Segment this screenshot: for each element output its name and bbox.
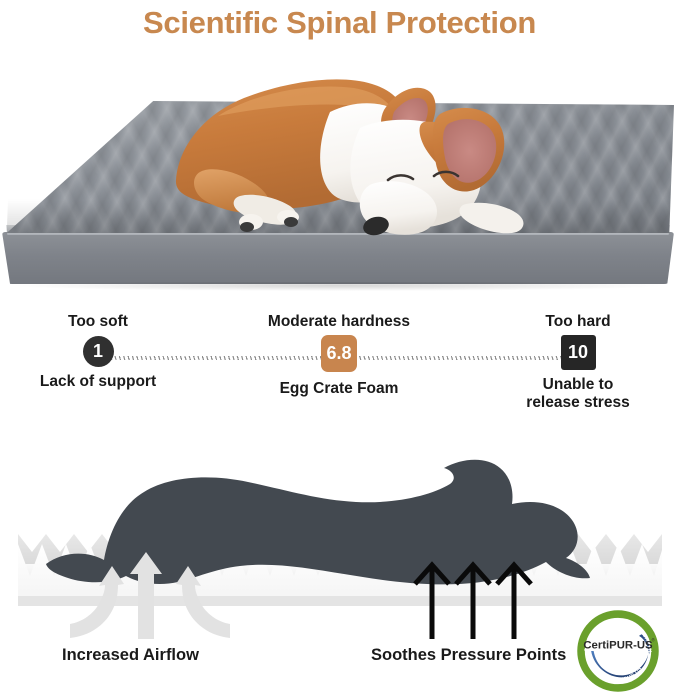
scale-node-moderate: Moderate hardness 6.8 Egg Crate Foam	[239, 313, 439, 398]
dog-paw-pad-right	[284, 217, 298, 227]
scale-badge-6-8: 6.8	[321, 335, 357, 372]
scale-node-too-hard: Too hard 10 Unable to release stress	[478, 313, 678, 412]
scale-node-top-label: Moderate hardness	[268, 313, 410, 330]
badge-wordmark: CertiPUR-US	[583, 639, 653, 651]
dog-silhouette	[46, 460, 590, 585]
label-soothes-pressure-points: Soothes Pressure Points	[371, 646, 566, 665]
hero-product-photo	[0, 46, 679, 296]
scale-node-bottom-label: Lack of support	[40, 373, 156, 391]
bed-floor-shadow	[16, 282, 661, 291]
scale-node-bottom-label: Egg Crate Foam	[280, 380, 399, 398]
dog-far-paw	[459, 203, 523, 234]
scale-badge-10: 10	[561, 335, 596, 370]
certipur-us-badge: CONTAINS CERTIFIED FLEXIBLE POLYURETHANE…	[576, 609, 660, 693]
pressure-arrows	[415, 565, 531, 639]
page-title-bar: Scientific Spinal Protection	[0, 0, 679, 46]
label-increased-airflow: Increased Airflow	[62, 646, 199, 665]
scale-node-top-label: Too soft	[68, 313, 128, 330]
dog-paw-pad-left	[240, 222, 254, 232]
page-title: Scientific Spinal Protection	[143, 5, 536, 41]
scale-node-too-soft: Too soft 1 Lack of support	[0, 313, 198, 391]
scale-node-top-label: Too hard	[545, 313, 610, 330]
scale-badge-1: 1	[83, 336, 114, 367]
dog-photo-illustration	[148, 54, 528, 254]
scale-node-bottom-label: Unable to release stress	[526, 376, 629, 411]
hardness-scale: Too soft 1 Lack of support Moderate hard…	[0, 305, 679, 420]
